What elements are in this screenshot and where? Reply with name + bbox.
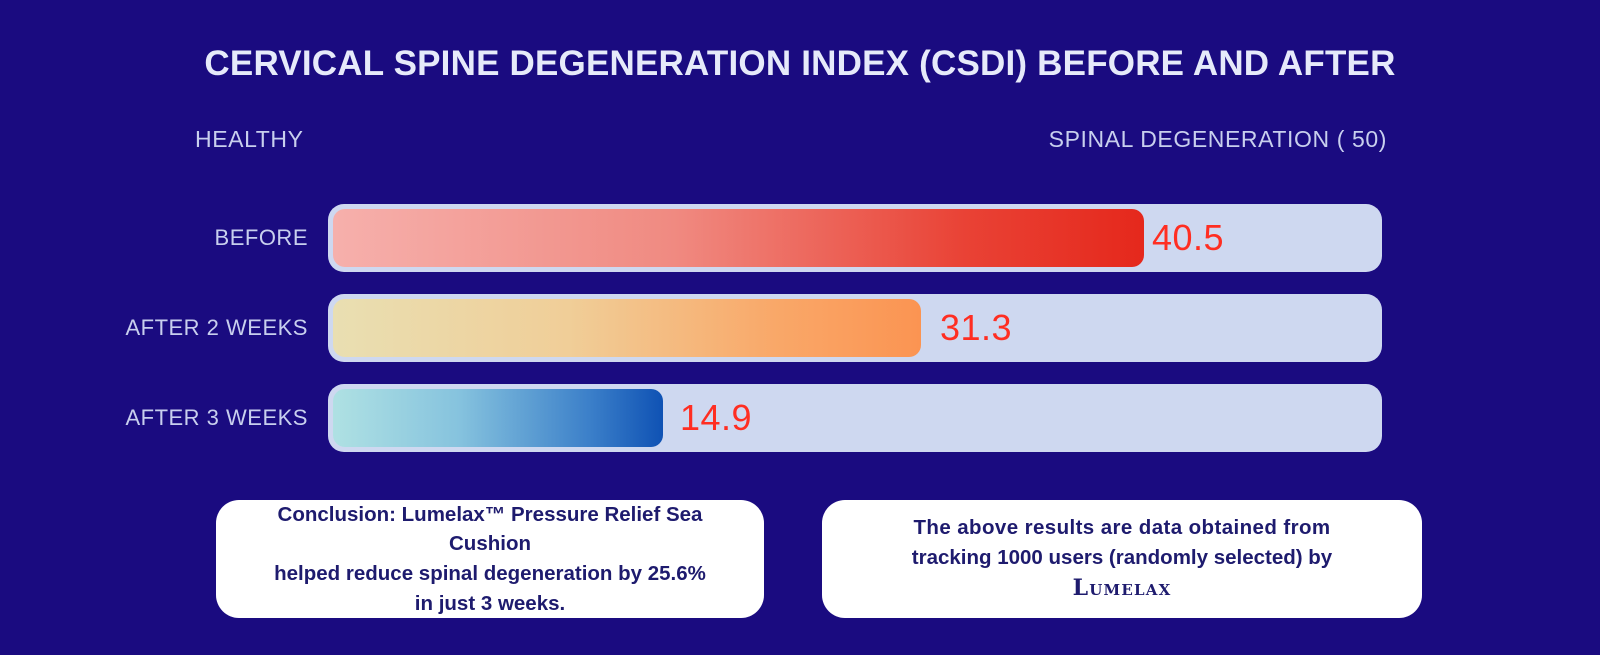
data-source-card: The above results are data obtained from… (822, 500, 1422, 618)
bar-value-after-3-weeks: 14.9 (680, 384, 752, 452)
footnote-cards: Conclusion: Lumelax™ Pressure Relief Sea… (0, 500, 1600, 620)
conclusion-line-3: in just 3 weeks. (415, 592, 565, 615)
scale-label-degeneration: SPINAL DEGENERATION ( 50) (1049, 126, 1387, 153)
bar-value-after-2-weeks: 31.3 (940, 294, 1012, 362)
scale-label-healthy: HEALTHY (195, 126, 304, 153)
conclusion-line-1: Conclusion: Lumelax™ Pressure Relief Sea… (278, 503, 703, 556)
bar-row-before: BEFORE 40.5 (0, 204, 1600, 272)
conclusion-line-2: helped reduce spinal degeneration by 25.… (274, 562, 706, 585)
bar-label-before: BEFORE (215, 204, 308, 272)
infographic-canvas: CERVICAL SPINE DEGENERATION INDEX (CSDI)… (0, 0, 1600, 655)
bar-label-after-2-weeks: AFTER 2 WEEKS (125, 294, 308, 362)
page-title: CERVICAL SPINE DEGENERATION INDEX (CSDI)… (0, 44, 1600, 84)
bar-track-after-3-weeks (328, 384, 1382, 452)
scale-legend: HEALTHY SPINAL DEGENERATION ( 50) (0, 126, 1600, 160)
conclusion-card: Conclusion: Lumelax™ Pressure Relief Sea… (216, 500, 764, 618)
bar-fill-after-3-weeks (333, 389, 663, 447)
bar-value-before: 40.5 (1152, 204, 1224, 272)
data-source-line-1: The above results are data obtained from (914, 516, 1331, 539)
bar-label-after-3-weeks: AFTER 3 WEEKS (125, 384, 308, 452)
bar-fill-before (333, 209, 1144, 267)
bar-chart: BEFORE 40.5 AFTER 2 WEEKS 31.3 AFTER 3 W… (0, 186, 1600, 464)
bar-row-after-2-weeks: AFTER 2 WEEKS 31.3 (0, 294, 1600, 362)
brand-name: Lumelax (1073, 575, 1172, 601)
bar-fill-after-2-weeks (333, 299, 921, 357)
data-source-line-2: tracking 1000 users (randomly selected) … (912, 546, 1332, 569)
bar-row-after-3-weeks: AFTER 3 WEEKS 14.9 (0, 384, 1600, 452)
bar-track-after-2-weeks (328, 294, 1382, 362)
